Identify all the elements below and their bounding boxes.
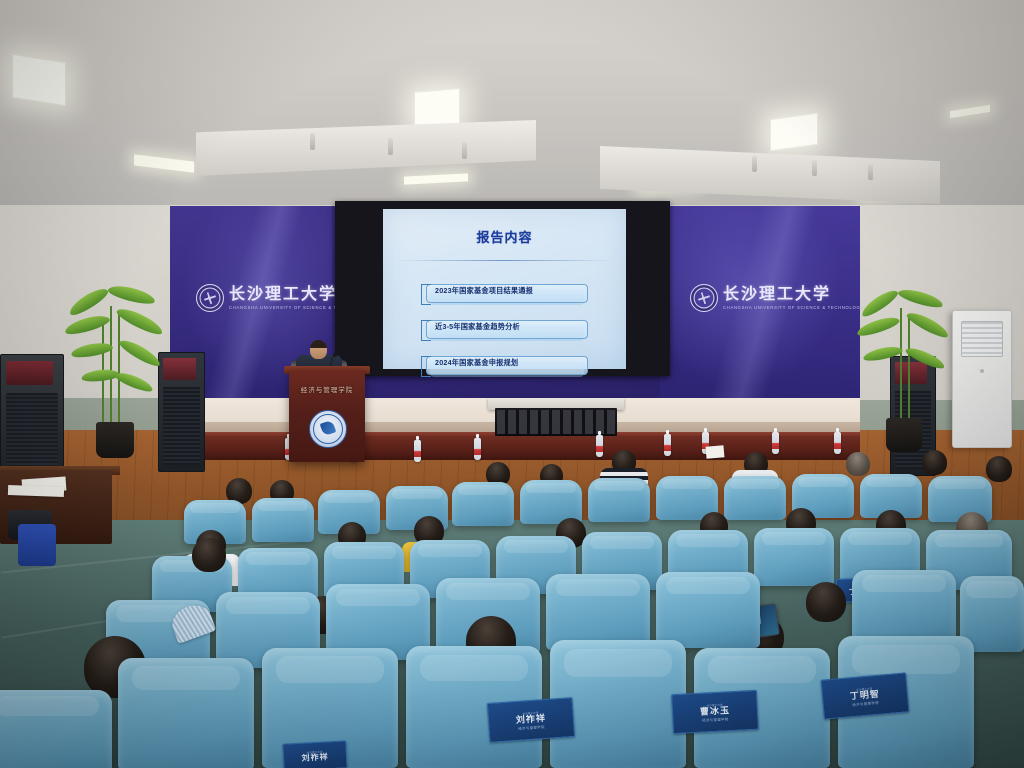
ceiling-light-4 xyxy=(134,154,194,172)
ceiling-light-2 xyxy=(414,88,460,128)
plant-pot xyxy=(96,422,134,458)
audience-head xyxy=(192,538,226,572)
document-sheet[interactable] xyxy=(706,445,725,459)
slide-bullet-text: 2023年国家基金项目结果通报 xyxy=(435,286,533,296)
water-bottle[interactable] xyxy=(664,434,671,456)
water-bottle[interactable] xyxy=(772,432,779,454)
plant-pot xyxy=(886,418,922,452)
potted-plant-left xyxy=(62,288,172,458)
ceiling-baffle-6 xyxy=(868,164,873,180)
speaker-grille xyxy=(6,393,58,467)
side-chair-seat[interactable] xyxy=(18,524,56,566)
water-bottle[interactable] xyxy=(414,440,421,462)
speaker-horn xyxy=(6,361,53,385)
podium-inscription: 经济与管理学院 xyxy=(289,384,365,394)
air-conditioner[interactable] xyxy=(952,310,1012,448)
seat[interactable] xyxy=(656,572,760,648)
ceiling-soffit-left xyxy=(196,120,536,176)
projection-screen: 报告内容 2023年国家基金项目结果通报 近3-5年国家基金趋势分析 2024年… xyxy=(383,209,626,369)
seat[interactable] xyxy=(754,528,834,586)
audience-head xyxy=(846,452,870,476)
water-bottle[interactable] xyxy=(834,432,841,454)
seat[interactable] xyxy=(252,498,314,542)
seat-nametag[interactable]: 长沙理工大学 丁明智 经济与管理学院 xyxy=(820,672,909,719)
seat[interactable] xyxy=(546,574,650,650)
seat[interactable] xyxy=(0,690,112,768)
university-logo-right: 长沙理工大学 CHANGSHA UNIVERSITY OF SCIENCE & … xyxy=(690,284,864,312)
ceiling-light-1 xyxy=(12,54,66,107)
seat-nametag: 长沙理工大学 刘祚祥 xyxy=(282,740,347,768)
audience-head xyxy=(922,450,947,475)
ceiling-soffit-right xyxy=(600,146,940,204)
audience-head xyxy=(986,456,1012,482)
potted-plant-right xyxy=(856,292,956,452)
nametag-org: 长沙理工大学 xyxy=(307,750,323,755)
slide-bullet-bracket xyxy=(421,284,431,305)
loudspeaker-cabinet-left-outer xyxy=(0,354,64,476)
seat-nametag[interactable]: 长沙理工大学 刘祚祥 经济与管理学院 xyxy=(487,697,576,743)
ceiling-baffle-4 xyxy=(752,156,757,172)
seat[interactable] xyxy=(588,478,650,522)
microphone-icon xyxy=(333,353,337,357)
nametag-sub: 经济与管理学院 xyxy=(518,724,545,731)
seat[interactable] xyxy=(452,482,514,526)
ceiling-light-8 xyxy=(950,105,990,118)
slide-bullet-text: 近3-5年国家基金趋势分析 xyxy=(435,322,520,332)
water-bottle[interactable] xyxy=(596,435,603,457)
ceiling-baffle-5 xyxy=(812,160,817,176)
university-emblem-icon xyxy=(309,410,347,448)
speaker-head xyxy=(310,340,327,359)
nametag-org: 长沙理工大学 xyxy=(706,702,722,707)
ceiling-baffle-3 xyxy=(462,142,467,159)
banner-right: 长沙理工大学 CHANGSHA UNIVERSITY OF SCIENCE & … xyxy=(660,206,860,406)
nametag-name: 曹冰玉 xyxy=(700,706,730,717)
slide-bullet-1: 2023年国家基金项目结果通报 xyxy=(417,281,592,302)
ceiling-light-3 xyxy=(770,113,818,152)
slide-title: 报告内容 xyxy=(383,227,626,246)
podium-emblem-wrap xyxy=(309,410,347,448)
ceiling-baffle-2 xyxy=(388,138,393,155)
ceiling xyxy=(0,0,1024,215)
slide-bullet-3: 2024年国家基金申报规划 xyxy=(417,353,592,374)
podium: 经济与管理学院 xyxy=(289,370,365,462)
ac-indicator-icon xyxy=(980,369,984,373)
university-seal-icon xyxy=(196,284,224,312)
ceiling-light-5 xyxy=(404,173,468,184)
university-seal-icon xyxy=(690,284,718,312)
water-bottle[interactable] xyxy=(474,438,481,460)
university-name-cn: 长沙理工大学 xyxy=(723,287,864,303)
seat[interactable] xyxy=(852,570,956,646)
nametag-sub: 经济与管理学院 xyxy=(702,716,729,722)
seat[interactable] xyxy=(724,476,786,520)
university-name-en: CHANGSHA UNIVERSITY OF SCIENCE & TECHNOL… xyxy=(723,304,864,310)
seat-nametag[interactable]: 长沙理工大学 曹冰玉 经济与管理学院 xyxy=(671,690,759,734)
slide-bullet-text: 2024年国家基金申报规划 xyxy=(435,358,518,368)
seat[interactable] xyxy=(118,658,254,768)
nametag-name: 刘祚祥 xyxy=(301,753,328,762)
slide-bullet-bracket xyxy=(421,320,431,341)
ceiling-baffle-1 xyxy=(310,133,315,150)
lecture-hall-photo: 长沙理工大学 CHANGSHA UNIVERSITY OF SCIENCE & … xyxy=(0,0,1024,768)
nametag-sub: 经济与管理学院 xyxy=(852,699,879,706)
slide-bullet-bracket xyxy=(421,356,431,377)
ac-vent-icon xyxy=(961,321,1003,357)
slide-divider xyxy=(397,260,612,261)
document-sheet[interactable] xyxy=(8,485,64,497)
slide-bullet-2: 近3-5年国家基金趋势分析 xyxy=(417,317,592,338)
audience-head xyxy=(806,582,846,622)
